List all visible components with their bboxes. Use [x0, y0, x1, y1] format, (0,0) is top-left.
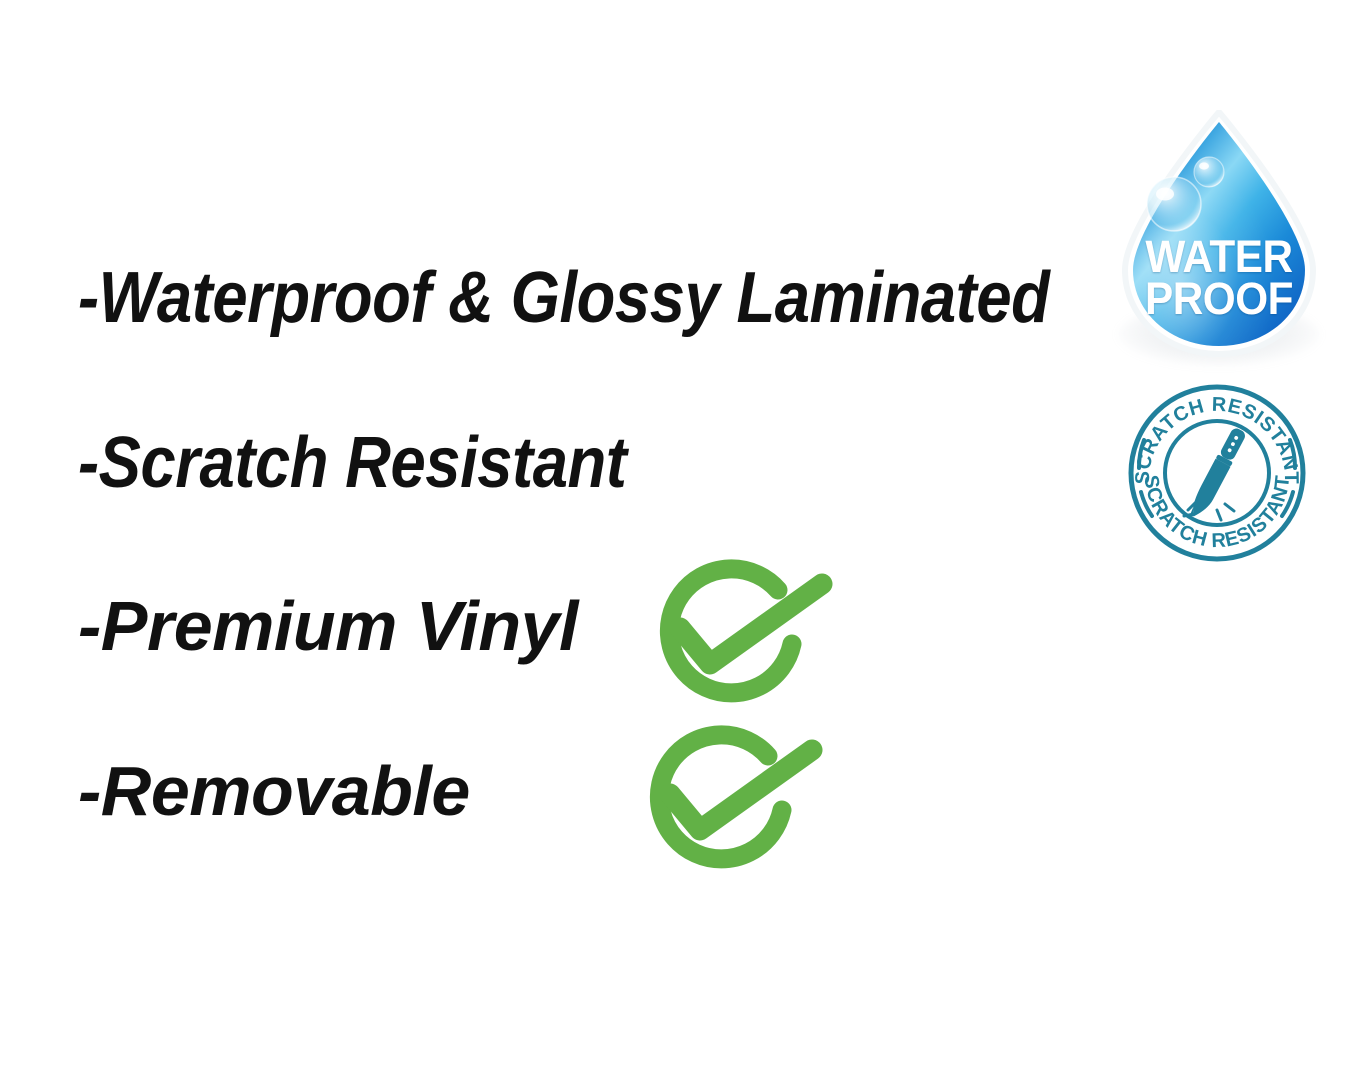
feature-item-waterproof-glossy-laminated: -Waterproof & Glossy Laminated	[78, 262, 1049, 334]
product-feature-graphic: -Waterproof & Glossy Laminated -Scratch …	[0, 0, 1359, 1080]
waterproof-badge: WATER PROOF	[1104, 108, 1334, 366]
water-drop-icon	[1112, 110, 1326, 358]
scratch-resistant-badge: SCRATCH RESISTANT SCRATCH RESISTANT	[1122, 382, 1312, 564]
feature-item-premium-vinyl: -Premium Vinyl	[78, 591, 578, 661]
feature-item-removable: -Removable	[78, 756, 470, 826]
knife-icon	[1186, 426, 1248, 522]
feature-item-scratch-resistant: -Scratch Resistant	[78, 427, 626, 499]
check-circle-icon-2	[630, 718, 830, 882]
check-circle-icon-1	[640, 558, 840, 714]
